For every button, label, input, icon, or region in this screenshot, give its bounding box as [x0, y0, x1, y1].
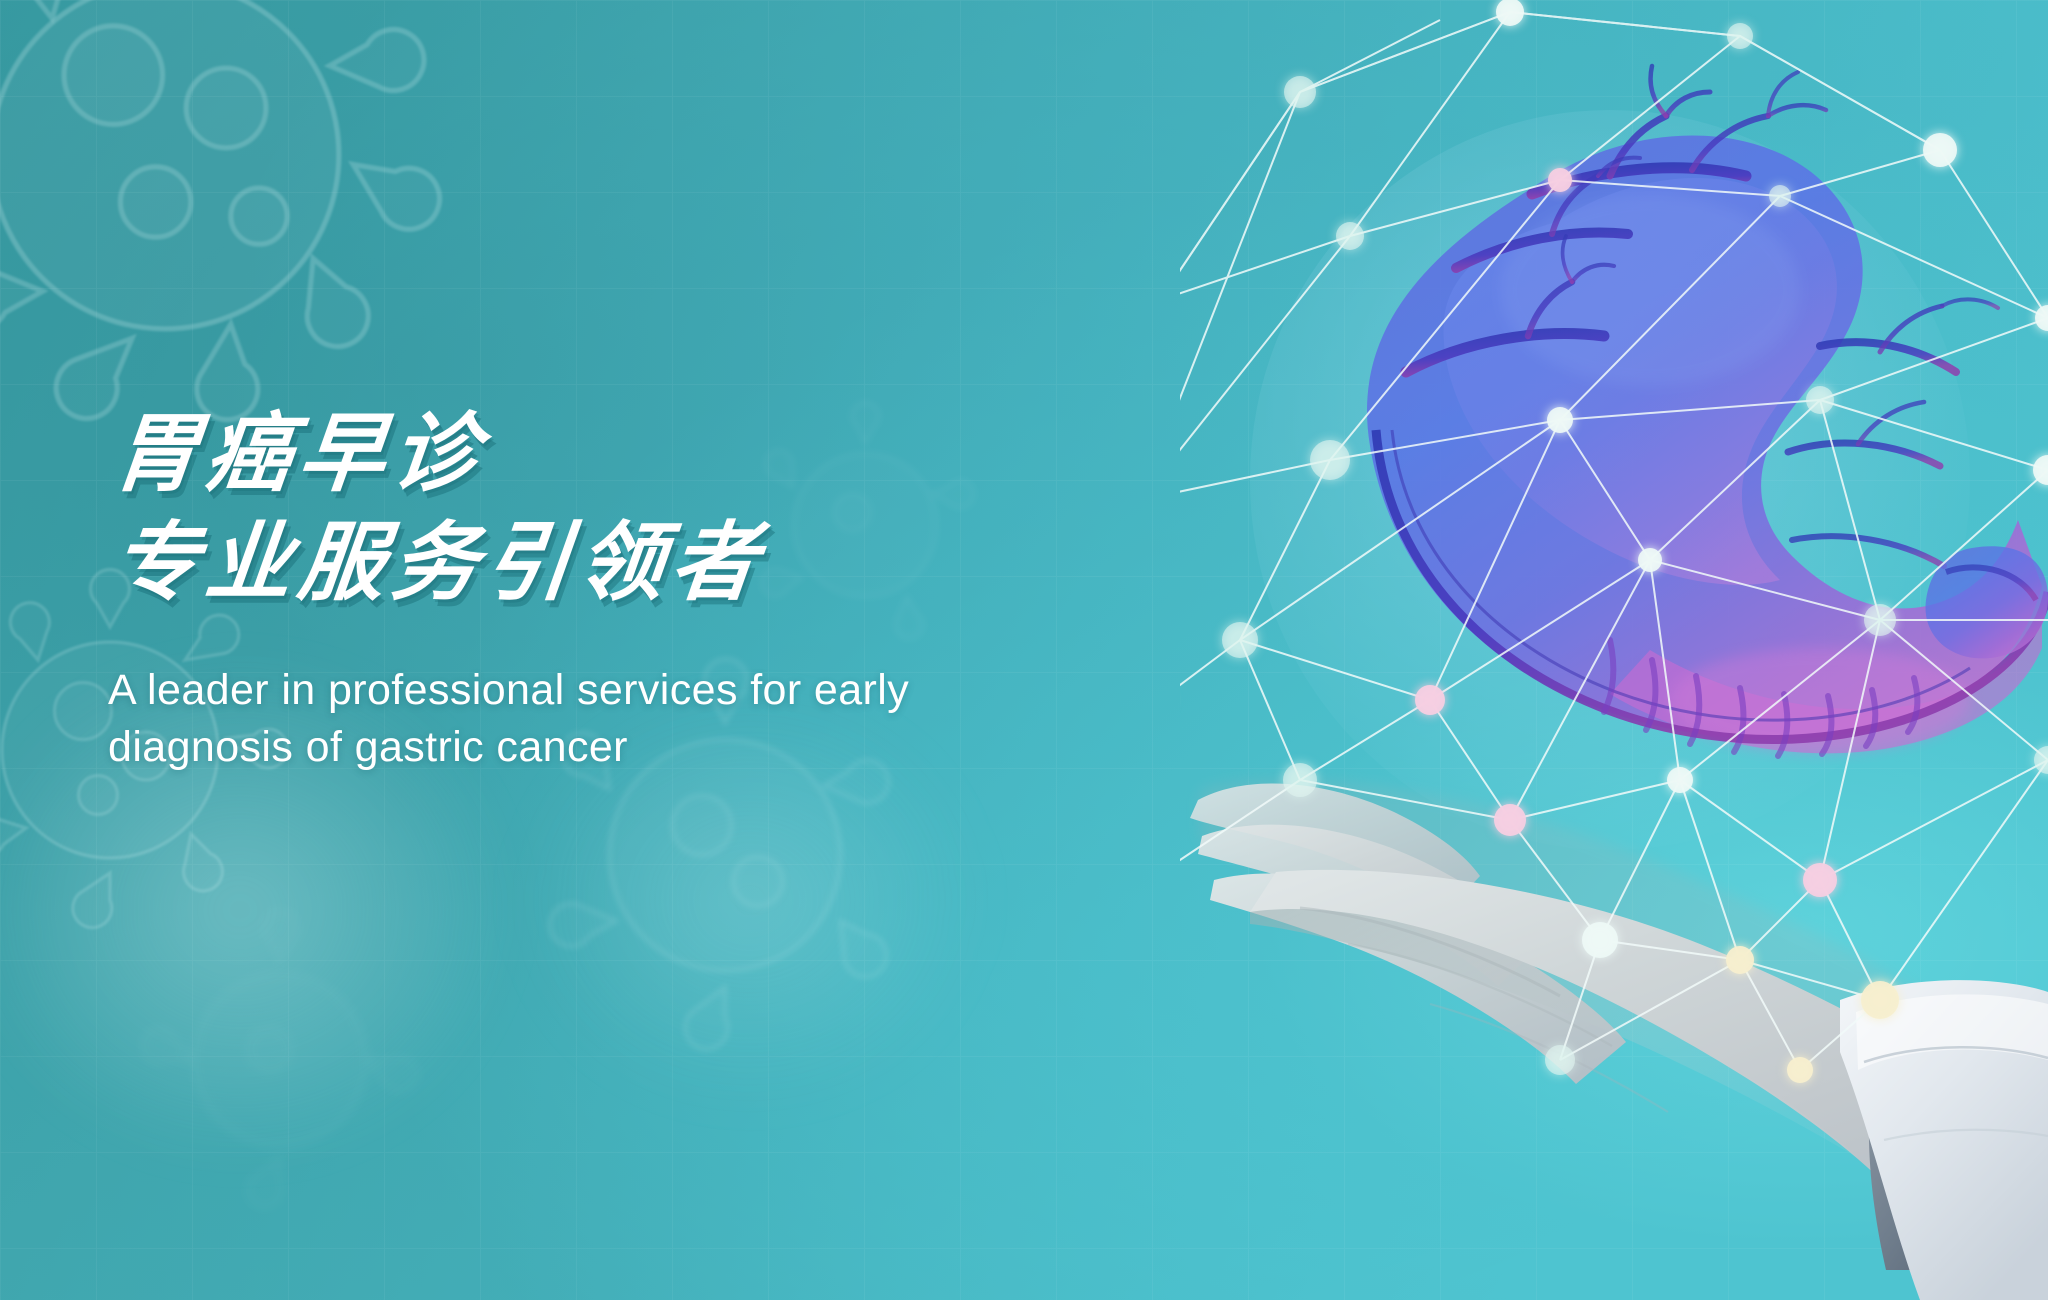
hero-illustration	[1180, 0, 2048, 1300]
virus-particle-icon	[0, 0, 400, 390]
banner-root: 胃癌早诊 专业服务引领者 A leader in professional se…	[0, 0, 2048, 1300]
virus-particle-icon	[150, 930, 410, 1190]
subtitle-en-line-1: A leader in professional services for ea…	[108, 662, 1108, 719]
hand-illustration	[1190, 780, 2048, 1300]
subtitle-en-line-2: diagnosis of gastric cancer	[108, 719, 1108, 776]
headline-cn-line-1: 胃癌早诊	[108, 408, 1118, 501]
banner-copy: 胃癌早诊 专业服务引领者 A leader in professional se…	[108, 408, 1108, 775]
subtitle-en: A leader in professional services for ea…	[108, 662, 1108, 776]
headline-cn-line-2: 专业服务引领者	[108, 517, 1118, 610]
